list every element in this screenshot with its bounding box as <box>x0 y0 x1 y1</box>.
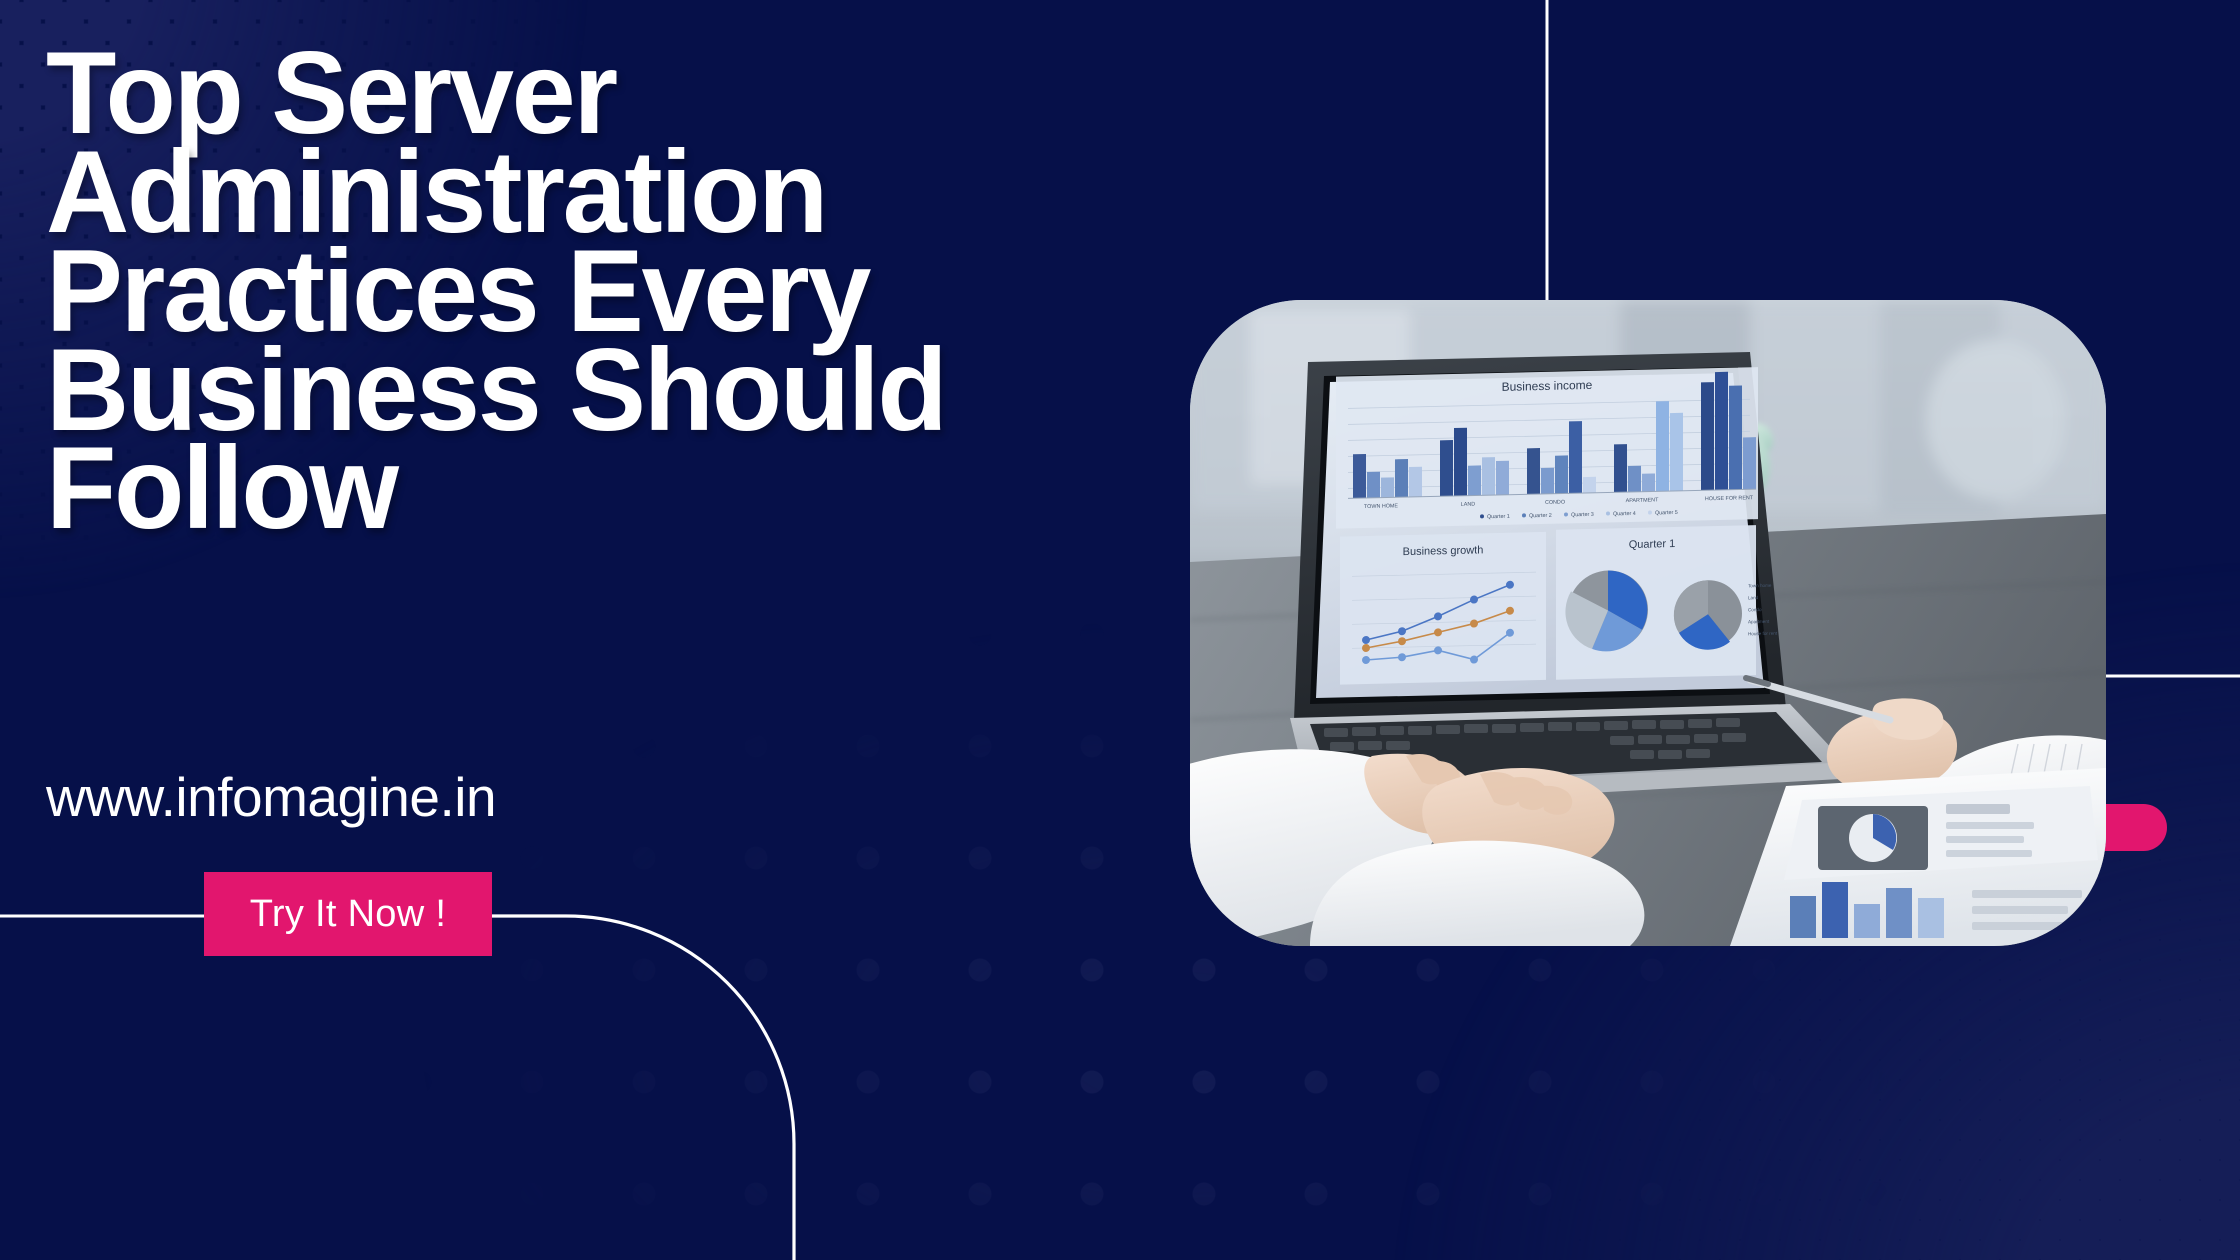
svg-text:Quarter 1: Quarter 1 <box>1487 514 1510 521</box>
svg-text:Quarter 3: Quarter 3 <box>1571 512 1594 519</box>
copy-block: Top Server Administration Practices Ever… <box>46 44 1166 538</box>
svg-text:APARTMENT: APARTMENT <box>1626 497 1659 504</box>
hero-photo-alt: Person typing on a laptop showing busine… <box>1190 300 1191 301</box>
svg-text:Business growth: Business growth <box>1403 544 1484 558</box>
svg-text:House for rent: House for rent <box>1748 631 1778 637</box>
svg-text:Quarter 1: Quarter 1 <box>1629 538 1675 551</box>
page-title: Top Server Administration Practices Ever… <box>46 44 1149 538</box>
hero-photo: Person typing on a laptop showing busine… <box>1190 300 2106 946</box>
svg-text:LAND: LAND <box>1461 502 1475 508</box>
svg-text:Condo: Condo <box>1748 607 1762 612</box>
svg-text:Quarter 4: Quarter 4 <box>1613 511 1636 518</box>
website-url: www.infomagine.in <box>46 765 496 829</box>
svg-text:Apartment: Apartment <box>1748 619 1770 624</box>
svg-text:Business income: Business income <box>1502 378 1593 394</box>
rounded-corner-line <box>492 916 794 1260</box>
svg-text:TOWN HOME: TOWN HOME <box>1364 503 1398 510</box>
svg-text:CONDO: CONDO <box>1545 499 1565 505</box>
svg-text:Town home: Town home <box>1748 583 1772 589</box>
promo-banner: Top Server Administration Practices Ever… <box>0 0 2240 1260</box>
svg-text:Land: Land <box>1748 595 1759 600</box>
svg-text:Quarter 5: Quarter 5 <box>1655 510 1678 517</box>
svg-text:HOUSE FOR RENT: HOUSE FOR RENT <box>1705 495 1754 502</box>
try-it-now-button[interactable]: Try It Now ! <box>204 872 492 956</box>
svg-text:Quarter 2: Quarter 2 <box>1529 513 1552 520</box>
